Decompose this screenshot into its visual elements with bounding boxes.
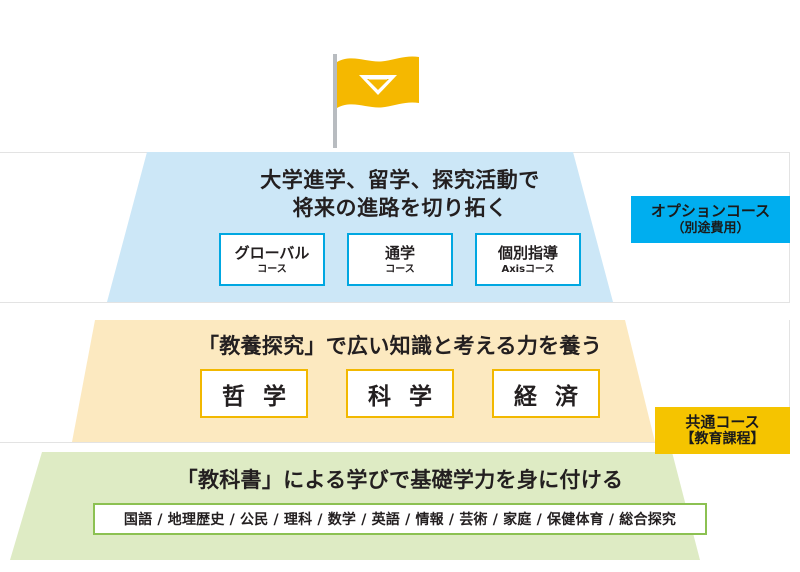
course-box-commuting[interactable]: 通学 コース — [347, 233, 453, 286]
tier-1-heading: 大学進学、留学、探究活動で 将来の進路を切り拓く — [260, 167, 540, 222]
common-course-badge: 共通コース 【教育課程】 — [655, 407, 790, 454]
flag-logo — [330, 38, 440, 148]
school-subjects-label: 国語 / 地理歴史 / 公民 / 理科 / 数学 / 英語 / 情報 / 芸術 … — [124, 509, 676, 529]
course-name: 通学 — [385, 245, 415, 262]
pyramid-diagram: 大学進学、留学、探究活動で 将来の進路を切り拓く グローバル コース 通学 コー… — [0, 0, 800, 560]
badge-subtitle: 【教育課程】 — [681, 431, 765, 447]
tier-foundation: 「教科書」による学びで基礎学力を身に付ける 国語 / 地理歴史 / 公民 / 理… — [0, 452, 800, 560]
subject-name: 哲 学 — [217, 377, 291, 411]
subject-box-science[interactable]: 科 学 — [346, 369, 454, 418]
subject-box-economics[interactable]: 経 済 — [492, 369, 600, 418]
badge-title: 共通コース — [685, 414, 759, 431]
subject-name: 科 学 — [363, 377, 437, 411]
tier-3-heading: 「教科書」による学びで基礎学力を身に付ける — [177, 464, 624, 494]
course-suffix: コース — [257, 264, 287, 275]
school-subjects-bar: 国語 / 地理歴史 / 公民 / 理科 / 数学 / 英語 / 情報 / 芸術 … — [93, 503, 707, 535]
badge-subtitle: （別途費用） — [671, 221, 749, 236]
course-box-global[interactable]: グローバル コース — [219, 233, 325, 286]
tier-2-heading: 「教養探究」で広い知識と考える力を養う — [198, 330, 602, 360]
flag-icon — [335, 54, 421, 116]
option-course-badge: オプションコース （別途費用） — [631, 196, 790, 243]
course-name: グローバル — [235, 245, 310, 262]
course-name: 個別指導 — [498, 245, 558, 262]
subject-box-philosophy[interactable]: 哲 学 — [200, 369, 308, 418]
tier-2-subject-list: 哲 学 科 学 経 済 — [200, 369, 600, 418]
course-box-axis[interactable]: 個別指導 Axisコース — [475, 233, 581, 286]
subject-name: 経 済 — [509, 377, 583, 411]
course-suffix: コース — [385, 264, 415, 275]
tier-1-course-list: グローバル コース 通学 コース 個別指導 Axisコース — [219, 233, 581, 286]
badge-title: オプションコース — [651, 203, 770, 220]
course-suffix: Axisコース — [501, 264, 554, 275]
